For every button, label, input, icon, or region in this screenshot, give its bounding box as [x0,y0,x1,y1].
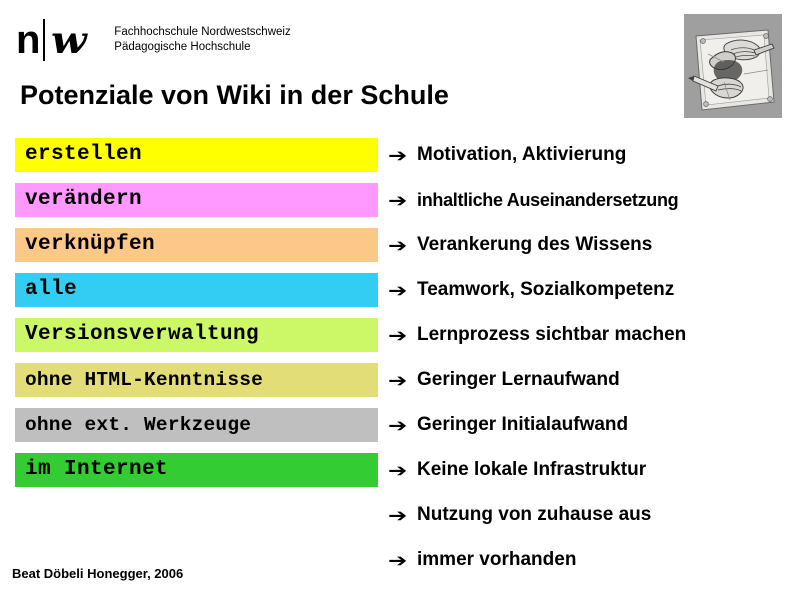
presentation-slide: n w Fachhochschule Nordwestschweiz Pädag… [0,0,800,600]
feature-box-versionsverwaltung[interactable]: Versionsverwaltung [15,318,378,352]
logo-letter-w: w [51,22,87,59]
arrow-right-icon: ➔ [388,146,411,164]
feature-box-ohne-ext-werkzeuge[interactable]: ohne ext. Werkzeuge [15,408,378,442]
benefit-row: ➔ Geringer Lernaufwand [388,363,788,397]
feature-box-label: alle [25,278,77,302]
feature-box-label: ohne ext. Werkzeuge [25,413,251,437]
benefit-row: ➔ Teamwork, Sozialkompetenz [388,273,788,307]
feature-box-ohne-html-kenntnisse[interactable]: ohne HTML-Kenntnisse [15,363,378,397]
arrow-right-icon: ➔ [388,281,411,299]
benefit-label: immer vorhanden [417,549,576,571]
benefit-row: ➔ Keine lokale Infrastruktur [388,453,788,487]
logo-wordmark: Fachhochschule Nordwestschweiz Pädagogis… [114,25,290,55]
benefit-list: ➔ Motivation, Aktivierung ➔ inhaltliche … [388,138,788,588]
logo-wordmark-line1: Fachhochschule Nordwestschweiz [114,25,290,40]
arrow-right-icon: ➔ [388,236,411,254]
feature-box-alle[interactable]: alle [15,273,378,307]
benefit-label: Motivation, Aktivierung [417,144,626,166]
benefit-label: inhaltliche Auseinandersetzung [417,189,678,211]
feature-box-erstellen[interactable]: erstellen [15,138,378,172]
benefit-row: ➔ Lernprozess sichtbar machen [388,318,788,352]
benefit-label: Geringer Initialaufwand [417,414,628,436]
benefit-row: ➔ Geringer Initialaufwand [388,408,788,442]
logo-divider-rule [43,19,45,61]
benefit-label: Geringer Lernaufwand [417,369,620,391]
benefit-row: ➔ Motivation, Aktivierung [388,138,788,172]
arrow-right-icon: ➔ [388,191,411,209]
benefit-row: ➔ Verankerung des Wissens [388,228,788,262]
feature-box-veraendern[interactable]: verändern [15,183,378,217]
escher-drawing-hands-image [684,14,782,118]
feature-box-im-internet[interactable]: im Internet [15,453,378,487]
feature-box-label: erstellen [25,143,142,167]
benefit-label: Teamwork, Sozialkompetenz [417,279,674,301]
benefit-row: ➔ inhaltliche Auseinandersetzung [388,183,788,217]
benefit-label: Nutzung von zuhause aus [417,504,651,526]
arrow-right-icon: ➔ [388,461,411,479]
author-credit: Beat Döbeli Honegger, 2006 [12,566,183,582]
benefit-row: ➔ Nutzung von zuhause aus [388,498,788,532]
feature-box-list: erstellen verändern verknüpfen alle Vers… [15,138,378,498]
feature-box-label: verknüpfen [25,233,155,257]
arrow-right-icon: ➔ [388,416,411,434]
benefit-label: Keine lokale Infrastruktur [417,459,646,481]
feature-box-label: ohne HTML-Kenntnisse [25,368,263,392]
fhnw-logo: n w Fachhochschule Nordwestschweiz Pädag… [16,16,291,64]
benefit-label: Lernprozess sichtbar machen [417,324,686,346]
feature-box-label: verändern [25,188,142,212]
logo-mark: n w [16,18,90,62]
logo-wordmark-line2: Pädagogische Hochschule [114,40,290,55]
escher-illustration [684,14,782,118]
feature-box-label: im Internet [25,458,168,482]
arrow-right-icon: ➔ [388,326,411,344]
feature-box-verknuepfen[interactable]: verknüpfen [15,228,378,262]
page-title: Potenziale von Wiki in der Schule [20,79,449,111]
logo-letter-n: n [16,20,39,60]
arrow-right-icon: ➔ [388,506,411,524]
feature-box-label: Versionsverwaltung [25,323,259,347]
arrow-right-icon: ➔ [388,371,411,389]
benefit-row: ➔ immer vorhanden [388,543,788,577]
arrow-right-icon: ➔ [388,551,411,569]
benefit-label: Verankerung des Wissens [417,234,652,256]
